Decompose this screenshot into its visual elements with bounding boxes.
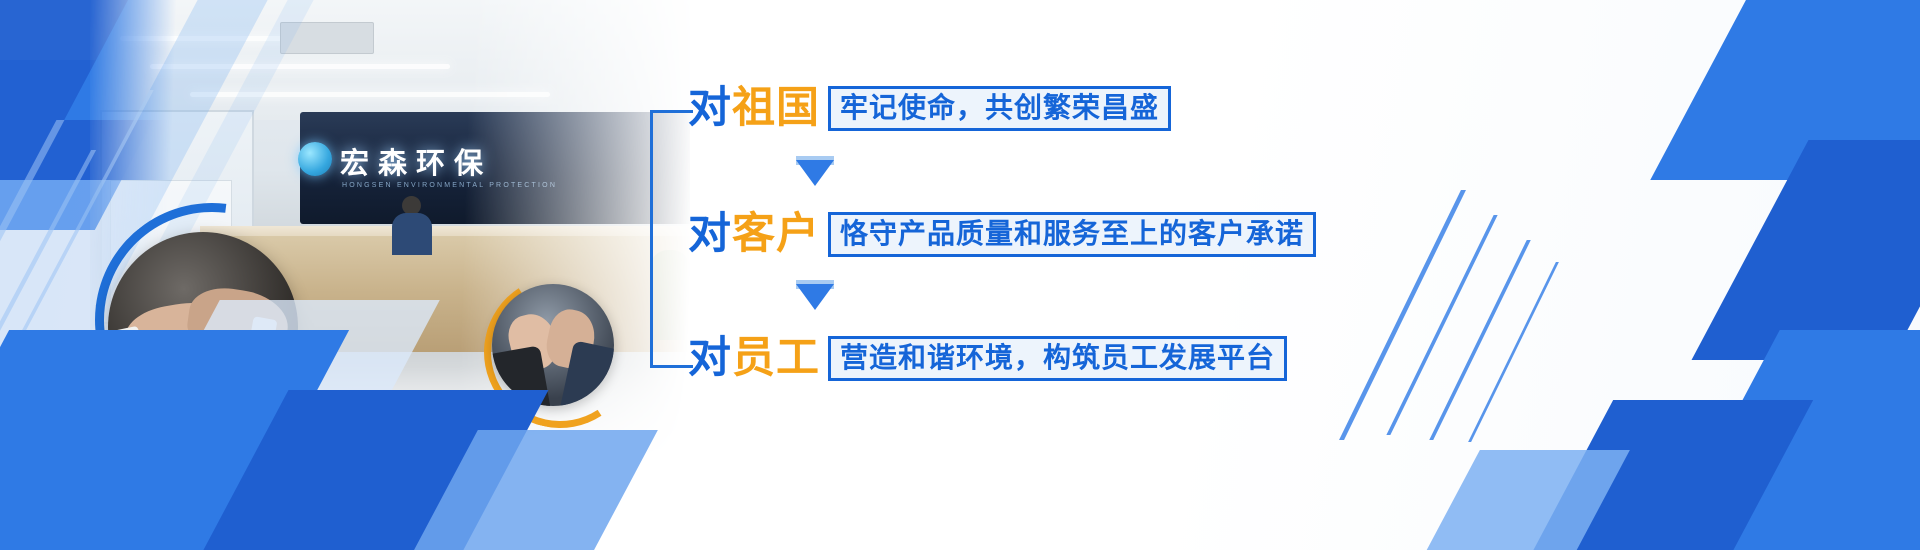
commitment-tag-customer: 恪守产品质量和服务至上的客户承诺: [828, 212, 1316, 257]
commitment-tag-employee: 营造和谐环境，构筑员工发展平台: [828, 336, 1287, 381]
company-commitment-banner: 宏森环保 HONGSEN ENVIRONMENTAL PROTECTION: [0, 0, 1920, 550]
commitment-lead-customer: 对客户: [688, 213, 820, 256]
commitment-lead-keyword: 客户: [732, 209, 820, 259]
left-bracket-icon: [650, 110, 693, 368]
applause-photo-bubble: [492, 284, 614, 406]
commitment-lead-employee: 对员工: [688, 337, 820, 380]
photo-receptionist: [390, 196, 434, 254]
commitment-list: 对祖国 牢记使命，共创繁荣昌盛 对客户 恪守产品质量和服务至上的客户承诺 对员工…: [650, 86, 1350, 386]
photo-person-body: [392, 213, 432, 255]
commitment-row-customer: 对客户 恪守产品质量和服务至上的客户承诺: [688, 212, 1316, 257]
commitment-lead-prefix: 对: [688, 333, 732, 383]
commitment-lead-keyword: 祖国: [732, 83, 820, 133]
commitment-lead-prefix: 对: [688, 83, 732, 133]
commitment-tag-country: 牢记使命，共创繁荣昌盛: [828, 86, 1171, 131]
company-sign-subtext: HONGSEN ENVIRONMENTAL PROTECTION: [342, 182, 557, 189]
company-logo-icon: [298, 142, 332, 176]
commitment-lead-keyword: 员工: [732, 333, 820, 383]
commitment-row-country: 对祖国 牢记使命，共创繁荣昌盛: [688, 86, 1171, 131]
arrow-down-icon-2: [796, 284, 834, 310]
commitment-lead-country: 对祖国: [688, 87, 820, 130]
company-sign-text: 宏森环保: [340, 140, 492, 182]
commitment-lead-prefix: 对: [688, 209, 732, 259]
commitment-row-employee: 对员工 营造和谐环境，构筑员工发展平台: [688, 336, 1287, 381]
arrow-down-icon-1: [796, 160, 834, 186]
